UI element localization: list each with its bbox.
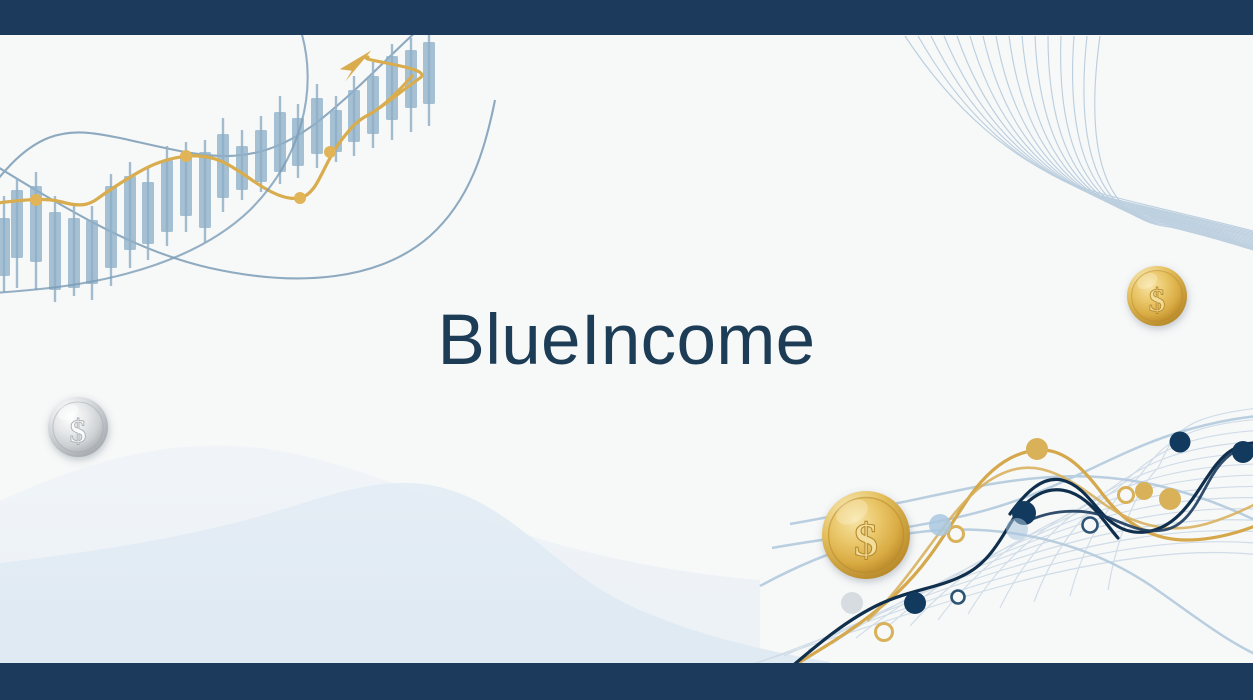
top-navy-bar <box>0 0 1253 35</box>
dollar-sign-icon: $ <box>1149 283 1166 319</box>
bottom-navy-bar <box>0 663 1253 700</box>
dollar-sign-icon: $ <box>854 514 878 567</box>
silver-coin: $ <box>48 397 108 457</box>
dollar-sign-icon: $ <box>70 414 87 450</box>
brand-title-slide: $ $ $ BlueIncome <box>0 0 1253 700</box>
gold-coin-large: $ <box>822 491 910 579</box>
gold-coin-small: $ <box>1127 266 1187 326</box>
background-graphics: $ $ $ <box>0 0 1253 700</box>
